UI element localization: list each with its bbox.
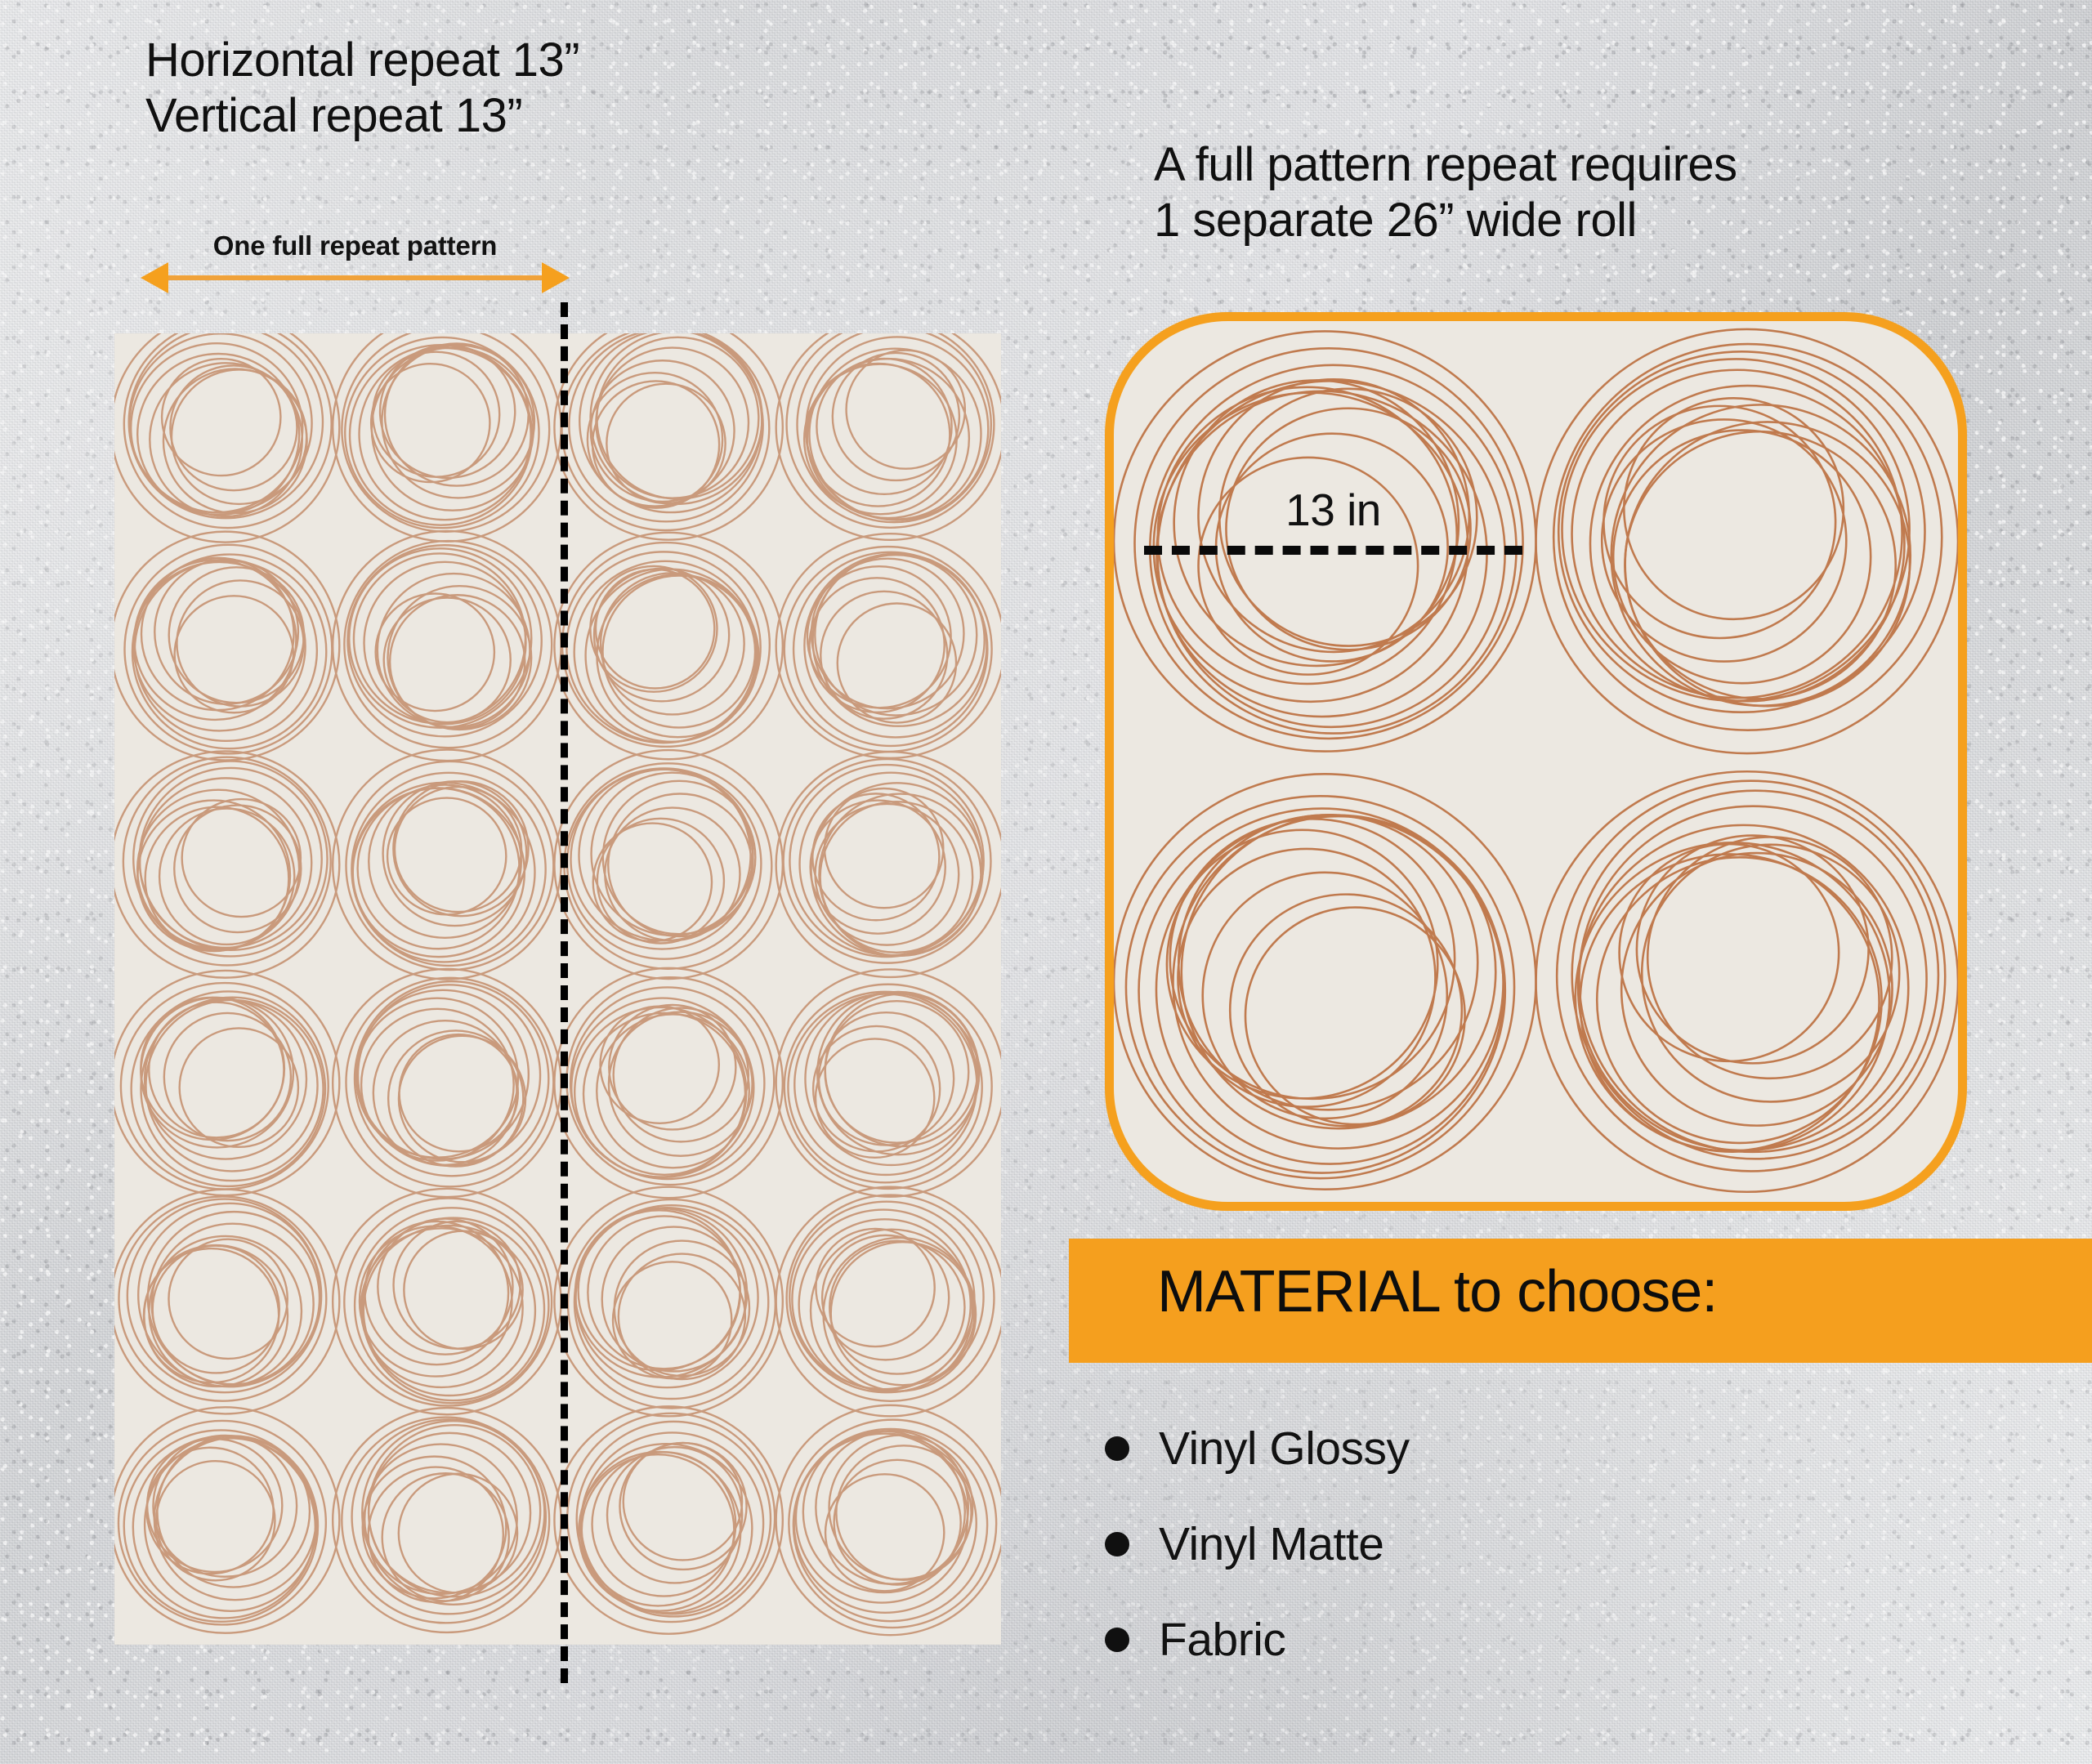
concentric-ring-pattern <box>114 333 1001 1645</box>
ring-motif <box>333 333 561 542</box>
ring-motif <box>1114 331 1536 751</box>
list-item[interactable]: Fabric <box>1105 1592 1840 1687</box>
ring-motif <box>776 333 1001 540</box>
material-banner-title: MATERIAL to choose: <box>1157 1258 1717 1325</box>
roll-concentric-ring-pattern <box>1114 321 1958 1202</box>
repeat-arrow-label: One full repeat pattern <box>141 230 570 261</box>
ring-motif <box>554 333 782 540</box>
material-label: Fabric <box>1159 1613 1285 1667</box>
ring-motif <box>114 333 339 543</box>
ring-motif <box>776 534 1001 758</box>
full-repeat-roll-panel <box>1105 312 1967 1211</box>
ring-motif <box>776 969 1001 1196</box>
bullet-icon <box>1105 1628 1129 1652</box>
left-panel-heading: Horizontal repeat 13” Vertical repeat 13… <box>145 33 579 145</box>
ring-motif <box>1536 329 1959 753</box>
ring-motif <box>1536 771 1959 1191</box>
ring-motif <box>114 1190 339 1414</box>
ring-motif <box>554 968 782 1198</box>
material-label: Vinyl Matte <box>1159 1517 1383 1571</box>
double-headed-arrow-icon <box>141 261 570 294</box>
ring-motif <box>554 750 782 979</box>
list-item[interactable]: Vinyl Glossy <box>1105 1400 1840 1496</box>
right-panel-heading: A full pattern repeat requires 1 separat… <box>1154 137 1737 249</box>
one-full-repeat-arrow: One full repeat pattern <box>141 235 570 293</box>
ring-motif <box>333 1189 561 1414</box>
material-label: Vinyl Glossy <box>1159 1422 1410 1476</box>
ring-motif <box>776 1187 1001 1417</box>
repeat-divider-line <box>561 302 568 1683</box>
pattern-repeat-swatch <box>114 333 1001 1645</box>
ring-motif <box>333 1408 561 1632</box>
ring-motif <box>776 752 1001 977</box>
ring-motif <box>114 532 339 761</box>
ring-motif <box>114 971 339 1195</box>
dimension-dashed-line <box>1144 546 1522 555</box>
ring-motif <box>114 751 339 977</box>
ring-motif <box>1114 774 1536 1189</box>
ring-motif <box>554 1187 782 1417</box>
bullet-icon <box>1105 1532 1129 1556</box>
material-banner: MATERIAL to choose: <box>1069 1239 2092 1363</box>
ring-motif <box>554 533 782 759</box>
material-list: Vinyl Glossy Vinyl Matte Fabric <box>1105 1400 1840 1687</box>
ring-motif <box>554 1406 782 1633</box>
ring-motif <box>776 1405 1001 1635</box>
bullet-icon <box>1105 1436 1129 1461</box>
ring-motif <box>333 969 561 1197</box>
ring-motif <box>114 1407 339 1632</box>
ring-motif <box>333 531 561 761</box>
dimension-label: 13 in <box>1144 484 1522 536</box>
list-item[interactable]: Vinyl Matte <box>1105 1496 1840 1592</box>
ring-motif <box>333 750 561 980</box>
